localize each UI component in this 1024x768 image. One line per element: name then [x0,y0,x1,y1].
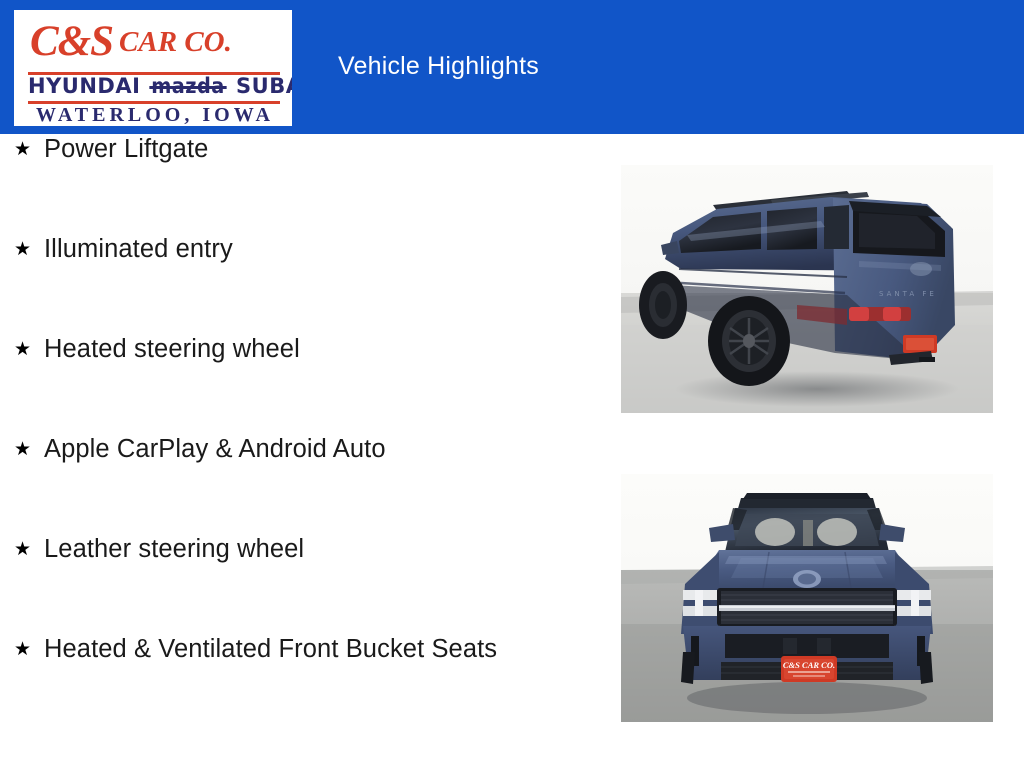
dealer-logo-inner: C&SCAR CO. HYUNDAI mazda SUBARU WATERLOO… [22,16,284,122]
star-icon: ★ [14,134,44,164]
dealer-logo-name-secondary: CAR CO. [119,26,232,58]
star-icon: ★ [14,234,44,264]
dealer-logo-name-primary: C&S [30,18,113,65]
vehicle-highlights-list: ★ Power Liftgate ★ Illuminated entry ★ H… [0,134,600,734]
list-item: ★ Illuminated entry [0,234,600,334]
brand-mazda: mazda [151,74,225,98]
brand-hyundai: HYUNDAI [28,74,140,98]
dealer-logo-city: WATERLOO, IOWA [28,104,282,126]
dealer-plate-text: C&S CAR CO. [783,660,835,670]
star-icon: ★ [14,634,44,664]
vehicle-photo-front-graphic: C&S CAR CO. [621,474,993,722]
dealer-logo[interactable]: C&SCAR CO. HYUNDAI mazda SUBARU WATERLOO… [14,10,292,126]
star-icon: ★ [14,534,44,564]
page-title: Vehicle Highlights [338,52,539,81]
vehicle-photo-rear-graphic: SANTA FE [621,165,993,413]
dealer-logo-brands: HYUNDAI mazda SUBARU [28,74,282,98]
star-icon: ★ [14,434,44,464]
vehicle-photo-front[interactable]: C&S CAR CO. [621,474,993,722]
list-item: ★ Leather steering wheel [0,534,600,634]
list-item: ★ Power Liftgate [0,134,600,234]
vehicle-photo-rear[interactable]: SANTA FE [621,165,993,413]
highlight-label: Leather steering wheel [44,534,304,565]
list-item: ★ Apple CarPlay & Android Auto [0,434,600,534]
list-item: ★ Heated & Ventilated Front Bucket Seats [0,634,600,734]
highlight-label: Apple CarPlay & Android Auto [44,434,386,465]
highlight-label: Heated steering wheel [44,334,300,365]
highlight-label: Illuminated entry [44,234,233,265]
dealer-license-plate: C&S CAR CO. [781,656,837,682]
page-header: C&SCAR CO. HYUNDAI mazda SUBARU WATERLOO… [0,0,1024,134]
list-item: ★ Heated steering wheel [0,334,600,434]
dealer-logo-name: C&SCAR CO. [30,17,232,66]
highlight-label: Heated & Ventilated Front Bucket Seats [44,634,497,665]
vehicle-badge-text: SANTA FE [879,290,937,298]
star-icon: ★ [14,334,44,364]
highlight-label: Power Liftgate [44,134,208,165]
brand-subaru: SUBARU [236,74,292,98]
